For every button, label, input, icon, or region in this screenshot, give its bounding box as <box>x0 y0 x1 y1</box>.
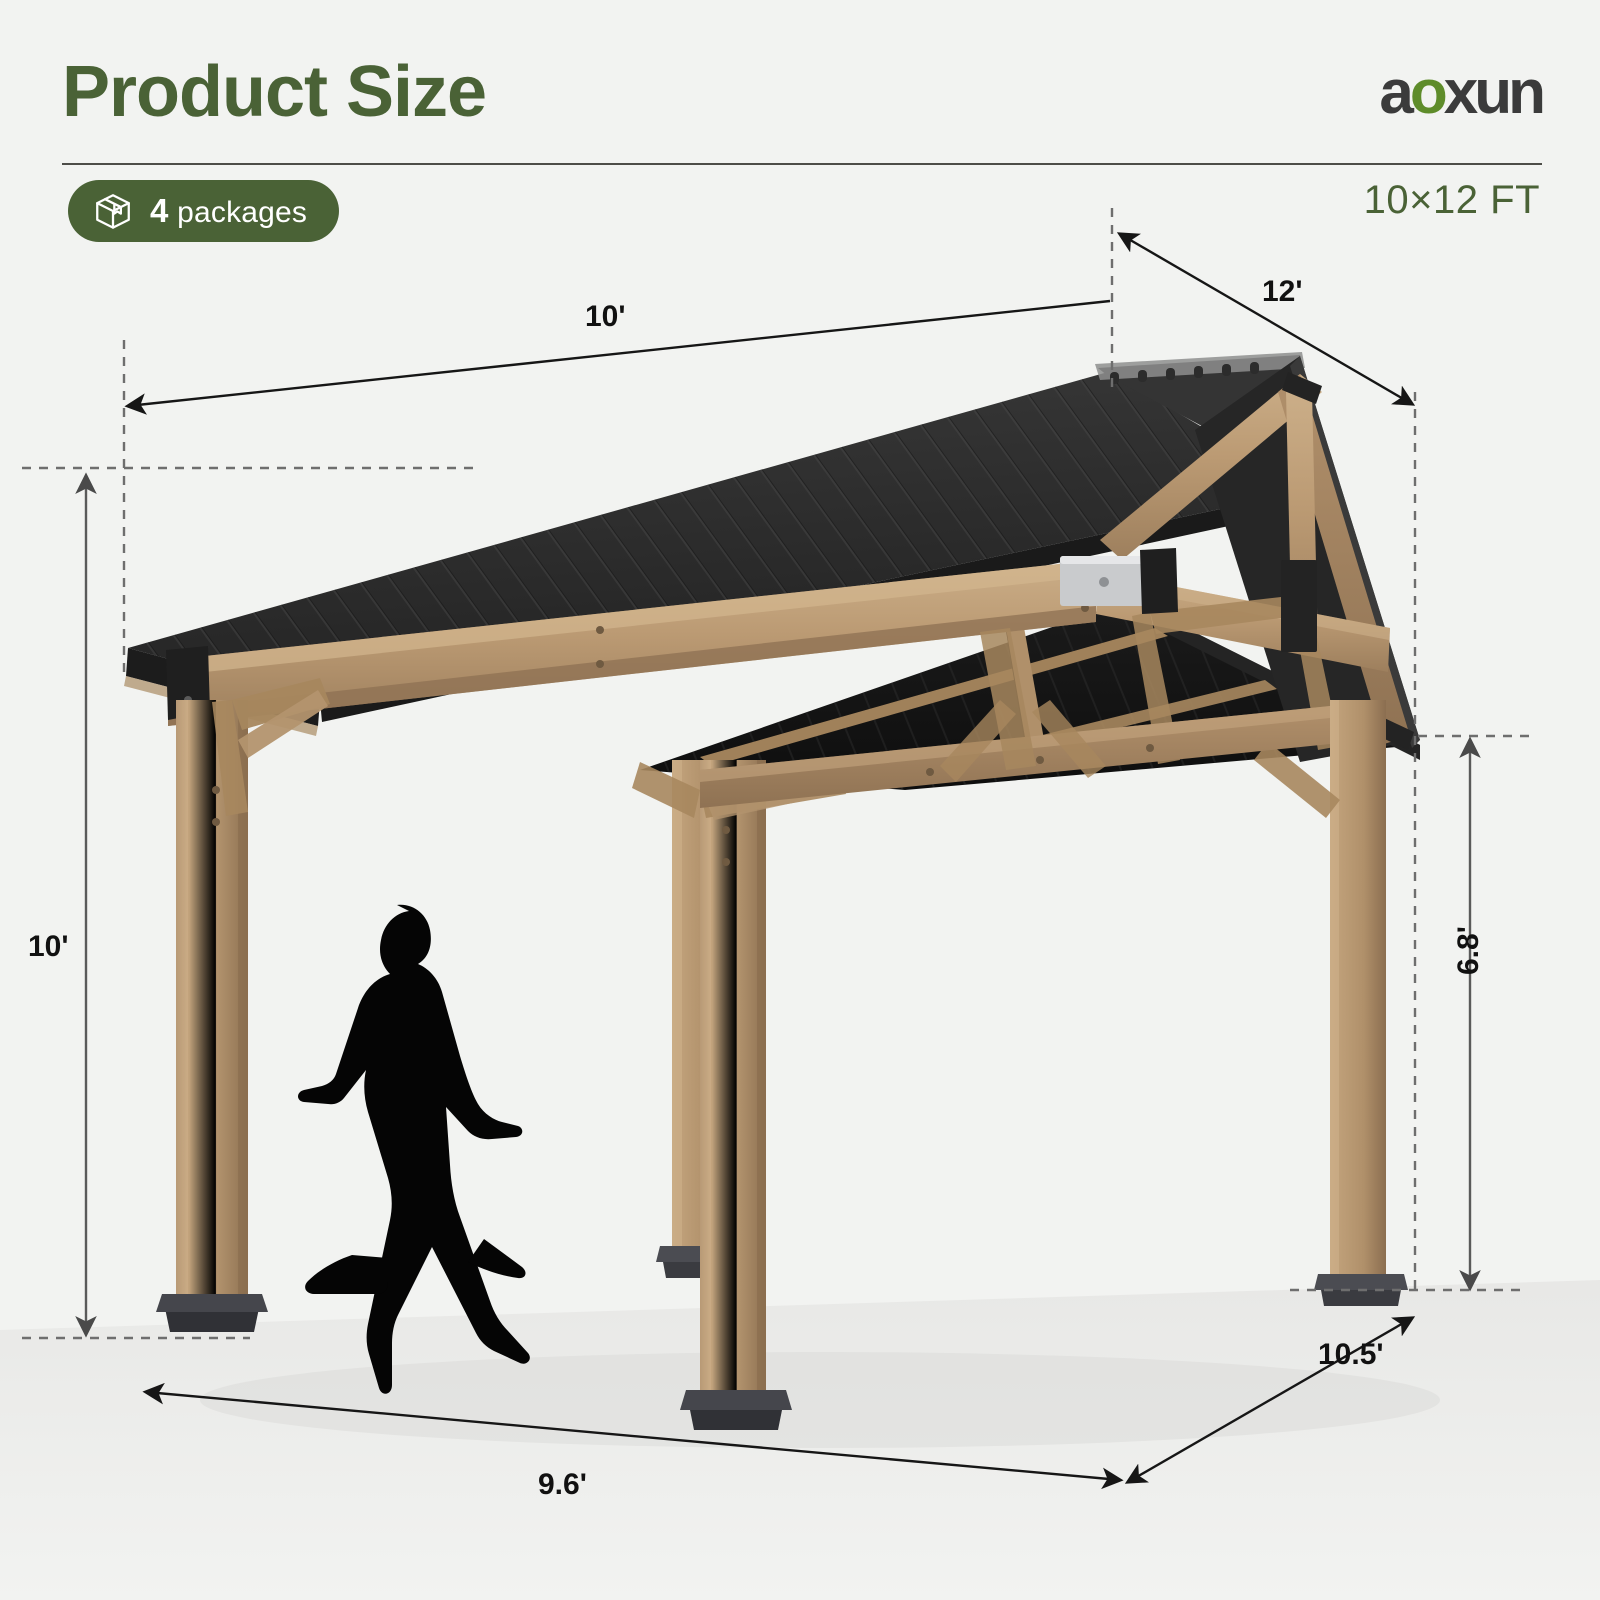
dim-label-roof-width: 10' <box>585 300 626 334</box>
dim-label-overall-height: 10' <box>28 930 69 964</box>
dim-label-roof-depth: 12' <box>1262 275 1303 309</box>
dim-label-base-width: 9.6' <box>538 1468 587 1502</box>
dim-label-base-depth: 10.5' <box>1318 1338 1384 1372</box>
product-size-infographic: Product Size aoxun 10×12 FT 4 packages <box>0 0 1600 1600</box>
post-right-rear <box>1254 700 1408 1306</box>
post-left-front <box>156 678 330 1332</box>
dim-label-clearance-height: 6.8' <box>1452 926 1486 975</box>
